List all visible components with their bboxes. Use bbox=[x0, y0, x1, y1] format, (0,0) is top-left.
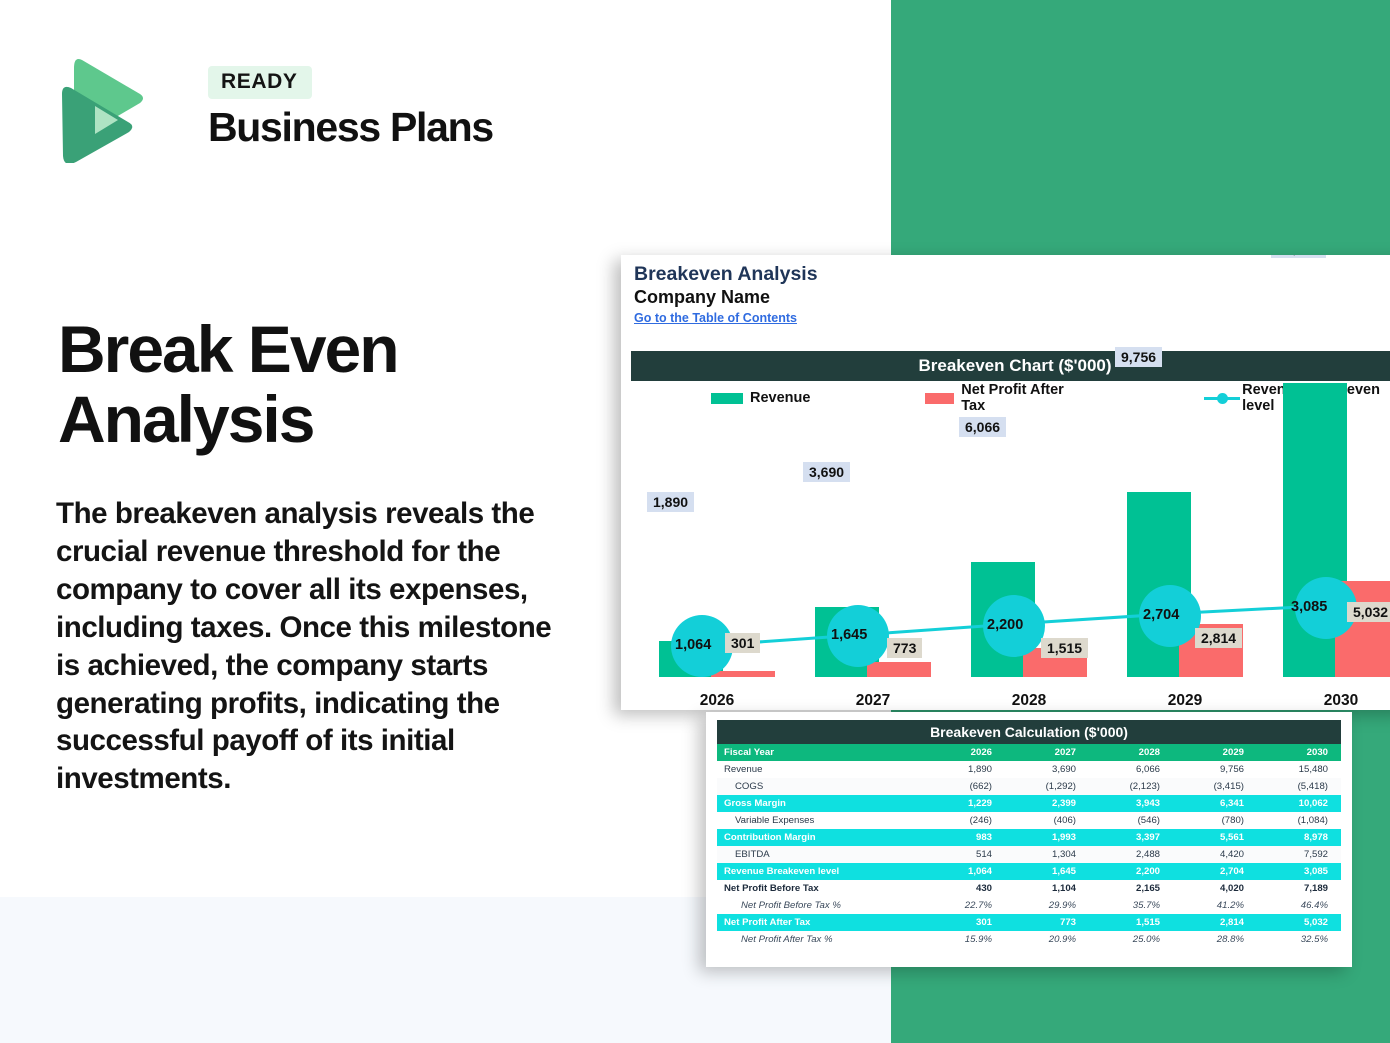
table-cell-value: 10,062 bbox=[1257, 795, 1341, 812]
table-cell-value: 2,165 bbox=[1089, 880, 1173, 897]
table-row: COGS(662)(1,292)(2,123)(3,415)(5,418) bbox=[717, 778, 1341, 795]
legend-line-marker-icon bbox=[1204, 392, 1236, 404]
table-cell-value: 8,978 bbox=[1257, 829, 1341, 846]
table-cell-value: 2,814 bbox=[1173, 914, 1257, 931]
table-banner-title: Breakeven Calculation ($'000) bbox=[717, 720, 1341, 744]
table-row-label: Net Profit Before Tax bbox=[717, 880, 921, 897]
table-cell-value: 32.5% bbox=[1257, 931, 1341, 948]
legend-swatch-npat-icon bbox=[925, 393, 954, 404]
table-cell-value: 20.9% bbox=[1005, 931, 1089, 948]
table-row: Net Profit After Tax3017731,5152,8145,03… bbox=[717, 914, 1341, 931]
brand-logo-block: READY Business Plans bbox=[58, 58, 438, 166]
breakeven-level-line bbox=[631, 415, 1390, 710]
table-cell-value: 2,399 bbox=[1005, 795, 1089, 812]
table-cell-value: 1,890 bbox=[921, 761, 1005, 778]
company-name: Company Name bbox=[634, 287, 770, 308]
table-col-2029: 2029 bbox=[1173, 744, 1257, 761]
table-row-label: Revenue Breakeven level bbox=[717, 863, 921, 880]
table-cell-value: 2,704 bbox=[1173, 863, 1257, 880]
table-row-label: Variable Expenses bbox=[717, 812, 921, 829]
breakeven-label-2030: 3,085 bbox=[1291, 599, 1327, 615]
table-row-label: COGS bbox=[717, 778, 921, 795]
table-cell-value: 514 bbox=[921, 846, 1005, 863]
chart-card-header: Breakeven Analysis Company Name Go to th… bbox=[621, 255, 1390, 350]
table-cell-value: (1,084) bbox=[1257, 812, 1341, 829]
chart-banner-title: Breakeven Chart ($'000) bbox=[631, 351, 1390, 381]
breakeven-chart-card: Breakeven Analysis Company Name Go to th… bbox=[621, 255, 1390, 710]
table-cell-value: 1,104 bbox=[1005, 880, 1089, 897]
table-cell-value: 46.4% bbox=[1257, 897, 1341, 914]
table-header-row: Fiscal Year 2026 2027 2028 2029 2030 bbox=[717, 744, 1341, 761]
table-cell-value: (406) bbox=[1005, 812, 1089, 829]
table-cell-value: (3,415) bbox=[1173, 778, 1257, 795]
table-cell-value: 1,229 bbox=[921, 795, 1005, 812]
table-row-label: Net Profit After Tax bbox=[717, 914, 921, 931]
table-cell-value: 2,488 bbox=[1089, 846, 1173, 863]
table-cell-value: 5,032 bbox=[1257, 914, 1341, 931]
table-cell-value: 2,200 bbox=[1089, 863, 1173, 880]
legend-label-revenue: Revenue bbox=[750, 390, 810, 406]
bar-label-npat-2027: 773 bbox=[887, 638, 922, 658]
table-cell-value: 1,515 bbox=[1089, 914, 1173, 931]
table-of-contents-link[interactable]: Go to the Table of Contents bbox=[634, 311, 797, 325]
table-col-2028: 2028 bbox=[1089, 744, 1173, 761]
table-cell-value: 25.0% bbox=[1089, 931, 1173, 948]
table-cell-value: (5,418) bbox=[1257, 778, 1341, 795]
breakeven-calculation-card: Breakeven Calculation ($'000) Fiscal Yea… bbox=[706, 712, 1352, 967]
sheet-title: Breakeven Analysis bbox=[634, 263, 818, 286]
breakeven-calculation-table: Fiscal Year 2026 2027 2028 2029 2030 Rev… bbox=[717, 744, 1341, 948]
table-col-2030: 2030 bbox=[1257, 744, 1341, 761]
table-cell-value: 1,993 bbox=[1005, 829, 1089, 846]
table-row-label: Net Profit Before Tax % bbox=[717, 897, 921, 914]
table-row: Net Profit Before Tax %22.7%29.9%35.7%41… bbox=[717, 897, 1341, 914]
chart-plot-area: 1,890 1,064 301 2026 3,690 1,645 773 202… bbox=[631, 415, 1390, 710]
table-row: Gross Margin1,2292,3993,9436,34110,062 bbox=[717, 795, 1341, 812]
table-cell-value: (1,292) bbox=[1005, 778, 1089, 795]
table-cell-value: 3,690 bbox=[1005, 761, 1089, 778]
table-cell-value: 4,020 bbox=[1173, 880, 1257, 897]
legend-label-npat: Net Profit After Tax bbox=[961, 382, 1078, 414]
table-cell-value: 773 bbox=[1005, 914, 1089, 931]
table-col-2027: 2027 bbox=[1005, 744, 1089, 761]
table-row-label: Contribution Margin bbox=[717, 829, 921, 846]
table-row-label: Net Profit After Tax % bbox=[717, 931, 921, 948]
table-cell-value: 1,304 bbox=[1005, 846, 1089, 863]
table-cell-value: 3,085 bbox=[1257, 863, 1341, 880]
bar-label-npat-2026: 301 bbox=[725, 633, 760, 653]
table-row: Net Profit Before Tax4301,1042,1654,0207… bbox=[717, 880, 1341, 897]
table-cell-value: 3,397 bbox=[1089, 829, 1173, 846]
bar-label-revenue-2029: 9,756 bbox=[1115, 347, 1162, 367]
table-row: Variable Expenses(246)(406)(546)(780)(1,… bbox=[717, 812, 1341, 829]
bar-label-revenue-2030: 15,480 bbox=[1271, 255, 1326, 258]
table-cell-value: 1,645 bbox=[1005, 863, 1089, 880]
table-cell-value: (246) bbox=[921, 812, 1005, 829]
table-cell-value: 7,189 bbox=[1257, 880, 1341, 897]
table-row: Revenue1,8903,6906,0669,75615,480 bbox=[717, 761, 1341, 778]
table-row: Revenue Breakeven level1,0641,6452,2002,… bbox=[717, 863, 1341, 880]
breakeven-label-2029: 2,704 bbox=[1143, 607, 1179, 623]
play-triangle-logo-icon bbox=[58, 58, 144, 163]
table-cell-value: 9,756 bbox=[1173, 761, 1257, 778]
table-row-label: Revenue bbox=[717, 761, 921, 778]
table-cell-value: 4,420 bbox=[1173, 846, 1257, 863]
ready-badge: READY bbox=[208, 66, 312, 99]
table-row: Contribution Margin9831,9933,3975,5618,9… bbox=[717, 829, 1341, 846]
breakeven-label-2026: 1,064 bbox=[675, 637, 711, 653]
bar-label-npat-2030: 5,032 bbox=[1347, 602, 1390, 622]
table-cell-value: (780) bbox=[1173, 812, 1257, 829]
brand-wordmark: READY Business Plans bbox=[208, 66, 493, 151]
table-cell-value: 6,066 bbox=[1089, 761, 1173, 778]
breakeven-label-2027: 1,645 bbox=[831, 627, 867, 643]
table-col-2026: 2026 bbox=[921, 744, 1005, 761]
chart-legend: Revenue Net Profit After Tax Revenue Bre… bbox=[631, 385, 1390, 411]
table-cell-value: 28.8% bbox=[1173, 931, 1257, 948]
table-cell-value: 15.9% bbox=[921, 931, 1005, 948]
table-cell-value: 430 bbox=[921, 880, 1005, 897]
table-row: Net Profit After Tax %15.9%20.9%25.0%28.… bbox=[717, 931, 1341, 948]
bar-label-npat-2029: 2,814 bbox=[1195, 628, 1242, 648]
table-col-fiscal-year: Fiscal Year bbox=[717, 744, 921, 761]
table-cell-value: 15,480 bbox=[1257, 761, 1341, 778]
legend-item-net-profit-after-tax[interactable]: Net Profit After Tax bbox=[925, 382, 1078, 414]
table-cell-value: 41.2% bbox=[1173, 897, 1257, 914]
table-cell-value: 7,592 bbox=[1257, 846, 1341, 863]
breakeven-label-2028: 2,200 bbox=[987, 617, 1023, 633]
table-row-label: Gross Margin bbox=[717, 795, 921, 812]
table-cell-value: 1,064 bbox=[921, 863, 1005, 880]
legend-swatch-revenue-icon bbox=[711, 393, 743, 404]
brand-name: Business Plans bbox=[208, 104, 493, 151]
table-cell-value: 301 bbox=[921, 914, 1005, 931]
table-cell-value: 22.7% bbox=[921, 897, 1005, 914]
bar-label-npat-2028: 1,515 bbox=[1041, 638, 1088, 658]
table-row-label: EBITDA bbox=[717, 846, 921, 863]
table-body: Revenue1,8903,6906,0669,75615,480COGS(66… bbox=[717, 761, 1341, 948]
page-description: The breakeven analysis reveals the cruci… bbox=[56, 495, 556, 798]
table-cell-value: (662) bbox=[921, 778, 1005, 795]
table-cell-value: 29.9% bbox=[1005, 897, 1089, 914]
table-cell-value: 5,561 bbox=[1173, 829, 1257, 846]
table-cell-value: (2,123) bbox=[1089, 778, 1173, 795]
table-cell-value: 983 bbox=[921, 829, 1005, 846]
table-row: EBITDA5141,3042,4884,4207,592 bbox=[717, 846, 1341, 863]
table-cell-value: 6,341 bbox=[1173, 795, 1257, 812]
table-cell-value: 35.7% bbox=[1089, 897, 1173, 914]
page-title: Break Even Analysis bbox=[58, 315, 578, 455]
legend-item-revenue[interactable]: Revenue bbox=[711, 390, 810, 406]
table-cell-value: 3,943 bbox=[1089, 795, 1173, 812]
table-cell-value: (546) bbox=[1089, 812, 1173, 829]
